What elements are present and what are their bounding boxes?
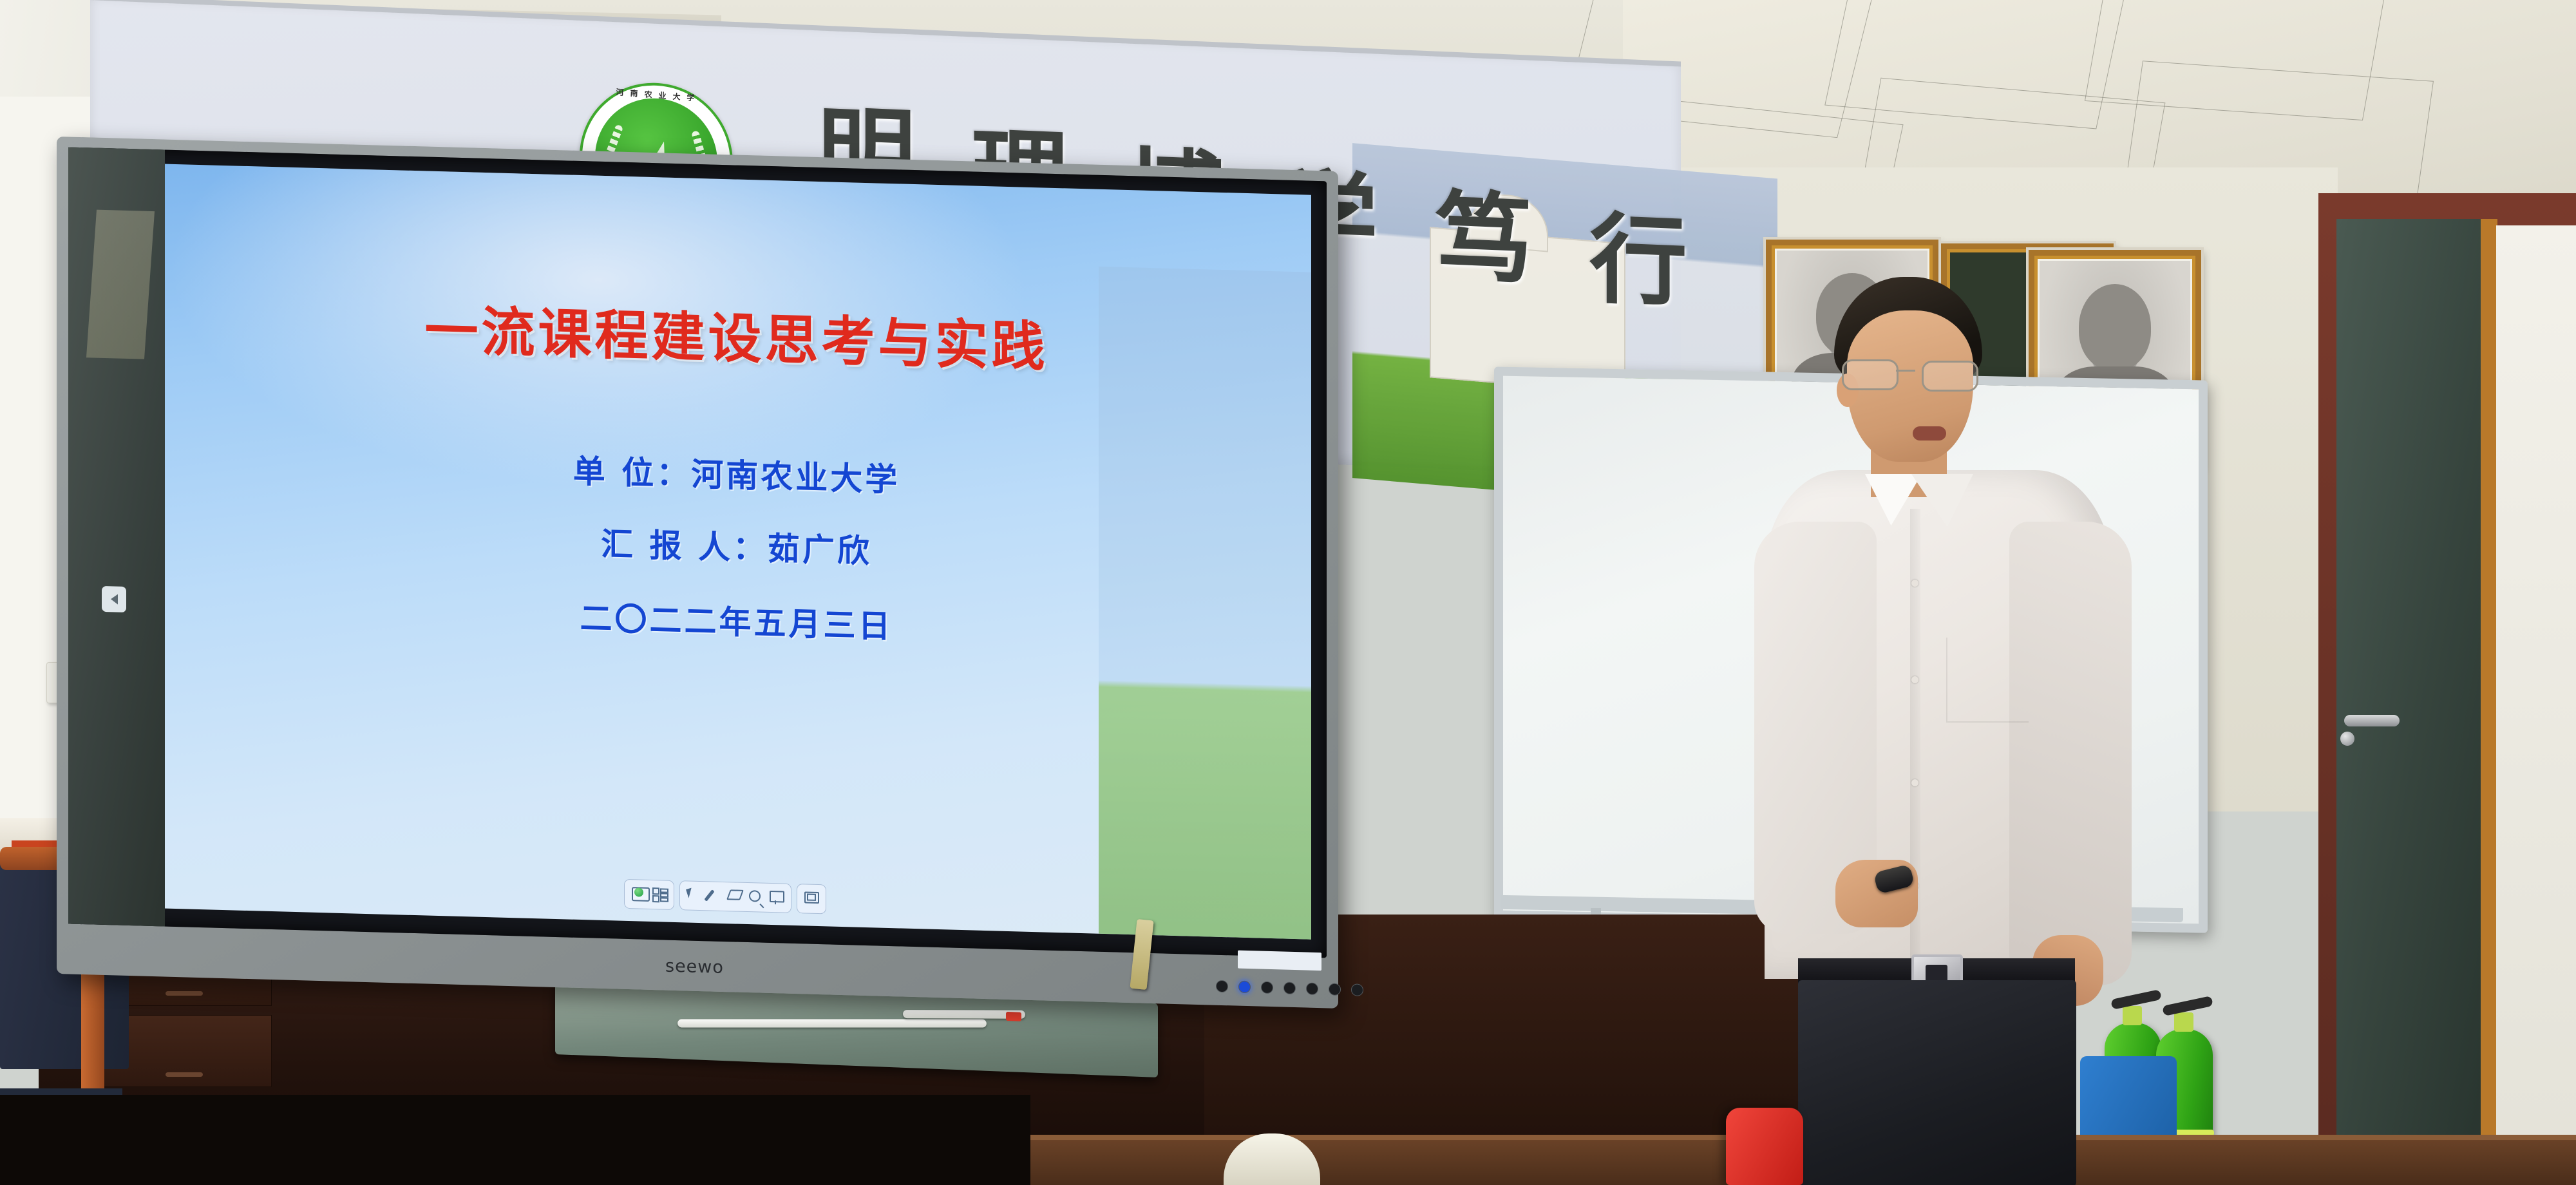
foreground-shadow — [0, 1095, 1030, 1185]
toolbar-group-apps[interactable] — [624, 879, 674, 910]
envelope-icon[interactable] — [632, 887, 646, 902]
smartboard-brand-logo: seewo — [665, 956, 724, 978]
shirt-button-3 — [1911, 779, 1918, 786]
present-icon[interactable] — [804, 891, 819, 906]
classroom-photo-scene: 理 学 河南农业大学 明 理 博 学 笃 行 — [0, 0, 2576, 1185]
presenter — [1739, 277, 2138, 1185]
back-button[interactable] — [1351, 983, 1363, 996]
corridor-wall — [2496, 225, 2576, 1185]
door-lock-knob[interactable] — [2340, 732, 2354, 746]
toolbar-group-tools[interactable] — [679, 880, 791, 913]
monitor-icon[interactable] — [770, 891, 784, 905]
stylus-red-tip — [1006, 1012, 1021, 1021]
home-button[interactable] — [1329, 983, 1341, 996]
presenter-arm-right — [2009, 522, 2132, 985]
red-bottle-cap — [1726, 1108, 1803, 1185]
drawer-handle-1[interactable] — [166, 991, 203, 996]
door-jamb — [2481, 219, 2497, 1185]
interactive-smartboard[interactable]: 一流课程建设思考与实践 单 位：河南农业大学 汇 报 人：茹广欣 二〇二二年五月… — [57, 137, 1338, 1009]
menu-button[interactable] — [1216, 980, 1228, 993]
fire-extinguisher-neck-2 — [2174, 1012, 2193, 1032]
drawer-handle-2[interactable] — [166, 1072, 203, 1077]
eraser-icon[interactable] — [728, 889, 743, 904]
eyeglasses-icon — [1842, 359, 1978, 388]
smartboard-screen[interactable]: 一流课程建设思考与实践 单 位：河南农业大学 汇 报 人：茹广欣 二〇二二年五月… — [162, 164, 1311, 939]
shirt-button-2 — [1911, 676, 1918, 683]
presenter-trousers — [1798, 980, 2076, 1185]
room-door[interactable] — [2336, 219, 2485, 1185]
door-handle[interactable] — [2344, 715, 2400, 726]
motto-char-5: 笃 — [1435, 188, 1533, 290]
lens-left — [1842, 359, 1899, 390]
triangle-left-icon[interactable] — [102, 586, 126, 612]
motto-char-6: 行 — [1589, 210, 1687, 312]
smartboard-bezel: 一流课程建设思考与实践 单 位：河南农业大学 汇 报 人：茹广欣 二〇二二年五月… — [68, 147, 1327, 958]
presenter-shirt-pocket — [1946, 638, 2029, 723]
stylus-pen-1[interactable] — [677, 1019, 987, 1028]
smartboard-reflection — [86, 210, 155, 359]
power-button[interactable] — [1238, 981, 1251, 994]
lens-right — [1922, 361, 1978, 392]
smartboard-spec-label — [1238, 951, 1321, 971]
pen-icon[interactable] — [708, 889, 722, 904]
volume-down-button[interactable] — [1283, 982, 1296, 995]
glasses-bridge — [1896, 370, 1915, 372]
source-button[interactable] — [1261, 981, 1273, 994]
toolbar-group-present[interactable] — [797, 884, 826, 914]
cursor-icon[interactable] — [687, 888, 701, 903]
volume-up-button[interactable] — [1306, 982, 1318, 995]
shirt-button-1 — [1911, 580, 1918, 587]
presenter-mouth — [1913, 426, 1946, 441]
seewo-toolbar[interactable] — [624, 877, 849, 916]
smartboard-dark-panel — [68, 147, 165, 926]
qr-list-icon[interactable] — [652, 887, 667, 902]
search-icon[interactable] — [749, 890, 763, 905]
